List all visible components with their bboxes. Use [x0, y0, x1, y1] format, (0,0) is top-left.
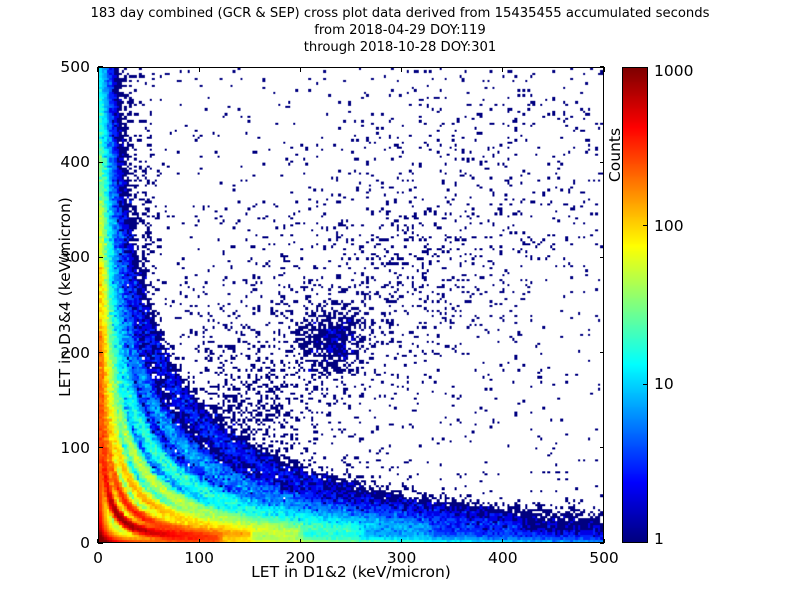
y-tick-label-0: 0	[0, 534, 90, 552]
colorbar-tick-label-1: 1	[654, 530, 664, 548]
y-tick-label-200: 200	[0, 344, 90, 362]
y-axis-label: LET in D3&4 (keV/micron)	[56, 59, 74, 535]
x-tick-top-400	[502, 67, 503, 72]
chart-title: 183 day combined (GCR & SEP) cross plot …	[0, 5, 800, 56]
colorbar-tick-10	[643, 384, 648, 385]
colorbar-tick-label-10: 10	[654, 375, 674, 393]
title-line-1: 183 day combined (GCR & SEP) cross plot …	[0, 5, 800, 22]
y-tick-label-500: 500	[0, 58, 90, 76]
y-tick-400	[98, 162, 103, 163]
y-tick-label-400: 400	[0, 153, 90, 171]
x-tick-top-500	[603, 67, 604, 72]
y-tick-0	[98, 542, 103, 543]
x-tick-top-0	[97, 67, 98, 72]
x-tick-top-300	[401, 67, 402, 72]
x-tick-100	[199, 539, 200, 544]
title-line-3: through 2018-10-28 DOY:301	[0, 39, 800, 56]
y-tick-100	[98, 447, 103, 448]
y-tick-right-200	[600, 352, 605, 353]
colorbar-tick-label-100: 100	[654, 217, 684, 235]
x-tick-200	[300, 539, 301, 544]
title-line-2: from 2018-04-29 DOY:119	[0, 22, 800, 39]
colorbar-label: Counts	[606, 5, 624, 305]
x-axis-label: LET in D1&2 (keV/micron)	[98, 563, 604, 581]
y-tick-200	[98, 352, 103, 353]
x-tick-300	[401, 539, 402, 544]
y-tick-label-100: 100	[0, 439, 90, 457]
y-tick-500	[98, 66, 103, 67]
y-tick-300	[98, 257, 103, 258]
x-tick-top-100	[199, 67, 200, 72]
y-tick-right-500	[600, 66, 605, 67]
colorbar	[622, 67, 648, 543]
x-tick-400	[502, 539, 503, 544]
y-tick-right-100	[600, 447, 605, 448]
histogram-canvas	[99, 68, 603, 542]
plot-area	[98, 67, 604, 543]
x-tick-top-200	[300, 67, 301, 72]
colorbar-tick-label-1000: 1000	[654, 62, 693, 80]
figure-canvas: 183 day combined (GCR & SEP) cross plot …	[0, 0, 800, 600]
colorbar-tick-100	[643, 225, 648, 226]
y-tick-right-0	[600, 542, 605, 543]
y-tick-right-400	[600, 162, 605, 163]
colorbar-gradient	[623, 68, 647, 542]
y-tick-right-300	[600, 257, 605, 258]
y-tick-label-300: 300	[0, 248, 90, 266]
